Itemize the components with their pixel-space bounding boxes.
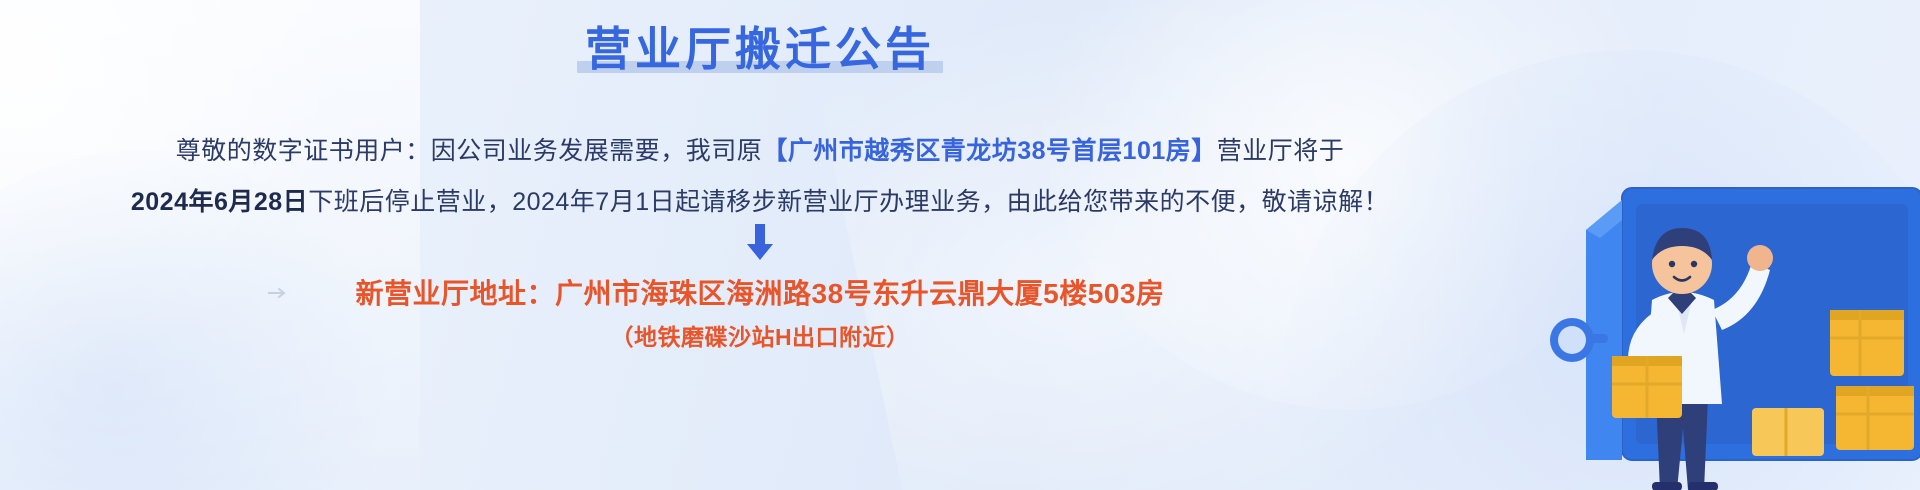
address-note-line: （地铁磨碟沙站H出口附近） bbox=[0, 318, 1520, 352]
banner-content: 营业厅搬迁公告 尊敬的数字证书用户：因公司业务发展需要，我司原【广州市越秀区青龙… bbox=[0, 0, 1520, 490]
body-line-1-post: 营业厅将于 bbox=[1217, 137, 1345, 165]
old-address-highlight: 【广州市越秀区青龙坊38号首层101房】 bbox=[762, 137, 1217, 165]
page-title: 营业厅搬迁公告 bbox=[585, 24, 935, 75]
body-line-2: 2024年6月28日下班后停止营业，2024年7月1日起请移步新营业厅办理业务，… bbox=[0, 182, 1520, 218]
page-title-wrap: 营业厅搬迁公告 bbox=[0, 24, 1520, 75]
announcement-banner: 营业厅搬迁公告 尊敬的数字证书用户：因公司业务发展需要，我司原【广州市越秀区青龙… bbox=[0, 0, 1920, 490]
body-line-1: 尊敬的数字证书用户：因公司业务发展需要，我司原【广州市越秀区青龙坊38号首层10… bbox=[0, 131, 1520, 167]
new-address-line: 新营业厅地址：广州市海珠区海洲路38号东升云鼎大厦5楼503房 bbox=[0, 272, 1520, 312]
body-line-1-pre: 尊敬的数字证书用户：因公司业务发展需要，我司原 bbox=[176, 137, 763, 165]
page-title-text: 营业厅搬迁公告 bbox=[585, 23, 935, 75]
arrow-down-icon bbox=[0, 224, 1520, 267]
closing-date: 2024年6月28日 bbox=[131, 188, 308, 216]
body-line-2-rest: 下班后停止营业，2024年7月1日起请移步新营业厅办理业务，由此给您带来的不便，… bbox=[308, 188, 1389, 216]
